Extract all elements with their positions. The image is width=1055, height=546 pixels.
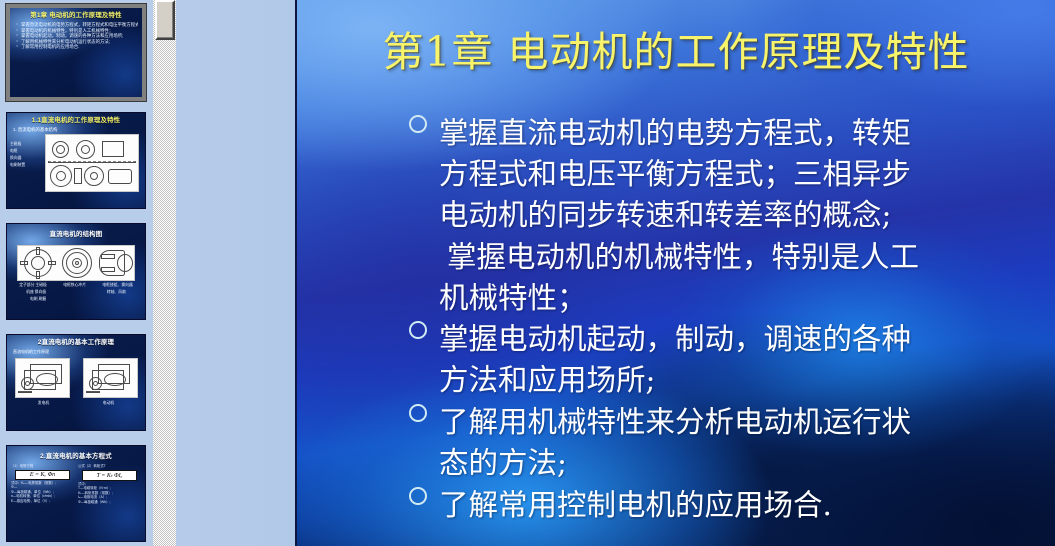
- caption: 电刷 刷握: [30, 297, 46, 302]
- thumbnail-5-title: 2.直流电机的基本方程式: [11, 452, 141, 461]
- bullet-1-cont-line-1: 掌握电动机的机械特性，特别是人工: [409, 237, 1031, 278]
- emf-heading: （1）电势方程: [11, 464, 74, 469]
- emf-equation: E = Kₑ Φn: [15, 470, 70, 480]
- slide-bullet-4: 了解常用控制电机的应用场合.: [409, 485, 1031, 526]
- caption: 电枢铁心冲片: [63, 283, 86, 288]
- thumbnail-slide-5[interactable]: 2.直流电机的基本方程式 （1）电势方程 E = Kₑ Φn 式中：Kₑ—电势常…: [6, 445, 146, 542]
- thumbnail-scrollbar[interactable]: [152, 0, 176, 546]
- slide-body: 掌握直流电动机的电势方程式，转矩 方程式和电压平衡方程式；三相异步 电动机的同步…: [409, 113, 1031, 527]
- motor-structure-images: [17, 245, 135, 281]
- slide-bullet-1: 掌握直流电动机的电势方程式，转矩 方程式和电压平衡方程式；三相异步 电动机的同步…: [409, 113, 1031, 236]
- caption: 机座 换向极: [26, 290, 46, 295]
- bullet-1-cont-line-2: 机械特性；: [409, 278, 1031, 319]
- thumbnail-2-part-labels: 主磁极 电枢 换向器 电刷装置: [10, 141, 25, 169]
- bullet-circle-icon: [409, 404, 427, 422]
- bullet-1-line-2: 方程式和电压平衡方程式；三相异步: [439, 154, 1031, 195]
- emf-equation-column: （1）电势方程 E = Kₑ Φn 式中：Kₑ—电势常数（常数）; Φ— Φ—每…: [11, 464, 74, 505]
- motor-principle-sketch: [83, 358, 138, 398]
- torque-equation-column: 公式（2）转矩式T T = Kₜ ΦIₐ 式中： T—电磁转矩（N·m）; Kₜ…: [78, 464, 141, 505]
- thumbnail-3-captions-3: 电刷 刷握: [11, 297, 141, 302]
- thumbnail-pane[interactable]: 第1章 电动机的工作原理及特性 掌握直流电动机的电势方程式，转矩方程式和电压平衡…: [0, 0, 152, 546]
- thumbnail-3-captions: 定子部分 主磁极 电枢铁心冲片 电枢绕组、换向器: [11, 283, 141, 288]
- bullet-3-line-1: 了解用机械特性来分析电动机运行状: [439, 402, 1031, 443]
- thumbnail-3-captions-2: 机座 换向极 转轴、风扇: [11, 290, 141, 295]
- stator-sketch: [18, 246, 57, 280]
- slide-title: 第1章 电动机的工作原理及特性: [297, 18, 1055, 78]
- thumbnail-1-bullet: 了解常用控制电机的应用场合.: [16, 44, 138, 50]
- caption: 定子部分 主磁极: [19, 283, 47, 288]
- armature-lamination-sketch: [57, 246, 96, 280]
- caption: 电枢绕组、换向器: [102, 283, 132, 288]
- bullet-circle-icon: [409, 487, 427, 505]
- caption: 转轴、风扇: [107, 290, 126, 295]
- emf-note: E—感应电势，单位（V）;: [11, 499, 74, 504]
- thumbnail-4-captions: 发电机 电动机: [11, 401, 141, 406]
- thumbnail-slide-4[interactable]: 2直流电机的基本工作原理 直流电机的工作原理: [6, 334, 146, 431]
- caption: 发电机: [38, 401, 49, 406]
- bullet-2-line-2: 方法和应用场所;: [439, 360, 1031, 401]
- part-label: 主磁极: [10, 141, 25, 148]
- slide-bullet-1-continuation: 掌握电动机的机械特性，特别是人工 机械特性；: [409, 237, 1031, 319]
- thumbnail-slide-2[interactable]: 1.1直流电机的工作原理及特性 1. 直流电机的基本结构 主磁极 电枢 换向器 …: [6, 112, 146, 209]
- thumbnail-3-content: 直流电机的结构图: [7, 224, 145, 319]
- slide-bullet-2: 掌握电动机起动，制动，调速的各种 方法和应用场所;: [409, 319, 1031, 401]
- thumbnail-5-content: 2.直流电机的基本方程式 （1）电势方程 E = Kₑ Φn 式中：Kₑ—电势常…: [7, 446, 145, 541]
- thumbnail-4-content: 2直流电机的基本工作原理 直流电机的工作原理: [7, 335, 145, 430]
- bullet-3-line-2: 态的方法;: [439, 443, 1031, 484]
- bullet-4-line-1: 了解常用控制电机的应用场合.: [439, 485, 1031, 526]
- thumbnail-1-content: 第1章 电动机的工作原理及特性 掌握直流电动机的电势方程式，转矩方程式和电压平衡…: [10, 8, 142, 97]
- thumbnail-slide-3[interactable]: 直流电机的结构图: [6, 223, 146, 320]
- thumbnail-4-title: 2直流电机的基本工作原理: [11, 338, 141, 347]
- caption: 电动机: [103, 401, 114, 406]
- bullet-1-line-1: 掌握直流电动机的电势方程式，转矩: [439, 113, 1031, 154]
- thumbnail-1-title: 第1章 电动机的工作原理及特性: [14, 11, 138, 20]
- torque-note: Φ—每极磁通（Wb）;: [78, 500, 141, 505]
- scrollbar-thumb-bevel: [157, 2, 173, 38]
- thumbnail-1-bullet-list: 掌握直流电动机的电势方程式，转矩方程式和电压平衡方程式；三相异步电动机的同步转速…: [14, 22, 138, 50]
- thumbnail-4-subtitle: 直流电机的工作原理: [13, 349, 141, 355]
- slide-bullet-3: 了解用机械特性来分析电动机运行状 态的方法;: [409, 402, 1031, 484]
- thumbnail-2-title: 1.1直流电机的工作原理及特性: [11, 116, 141, 125]
- scrollbar-thumb[interactable]: [155, 0, 175, 40]
- bullet-circle-icon: [409, 321, 427, 339]
- part-label: 电枢: [10, 148, 25, 155]
- thumbnail-5-equation-columns: （1）电势方程 E = Kₑ Φn 式中：Kₑ—电势常数（常数）; Φ— Φ—每…: [11, 464, 141, 505]
- torque-equation: T = Kₜ ΦIₐ: [82, 470, 137, 481]
- generator-principle-sketch: [15, 358, 70, 398]
- thumbnail-4-image-row: [11, 357, 141, 398]
- thumbnail-2-subtitle: 1. 直流电机的基本结构: [13, 127, 141, 133]
- commutator-sketch: [95, 246, 134, 280]
- thumbnail-slide-1[interactable]: 第1章 电动机的工作原理及特性 掌握直流电动机的电势方程式，转矩方程式和电压平衡…: [6, 4, 146, 101]
- motor-exploded-view-image: [45, 134, 139, 192]
- slide-viewer-window: 第1章 电动机的工作原理及特性 掌握直流电动机的电势方程式，转矩方程式和电压平衡…: [0, 0, 1055, 546]
- bullet-circle-icon: [409, 115, 427, 133]
- torque-heading: 公式（2）转矩式T: [78, 464, 141, 469]
- thumbnail-2-content: 1.1直流电机的工作原理及特性 1. 直流电机的基本结构 主磁极 电枢 换向器 …: [7, 113, 145, 208]
- bullet-2-line-1: 掌握电动机起动，制动，调速的各种: [439, 319, 1031, 360]
- part-label: 电刷装置: [10, 162, 25, 169]
- part-label: 换向器: [10, 155, 25, 162]
- bullet-1-line-3: 电动机的同步转速和转差率的概念;: [439, 195, 1031, 236]
- viewer-background-filler: [176, 0, 297, 546]
- main-slide[interactable]: 第1章 电动机的工作原理及特性 掌握直流电动机的电势方程式，转矩 方程式和电压平…: [297, 0, 1055, 546]
- thumbnail-3-title: 直流电机的结构图: [11, 230, 141, 239]
